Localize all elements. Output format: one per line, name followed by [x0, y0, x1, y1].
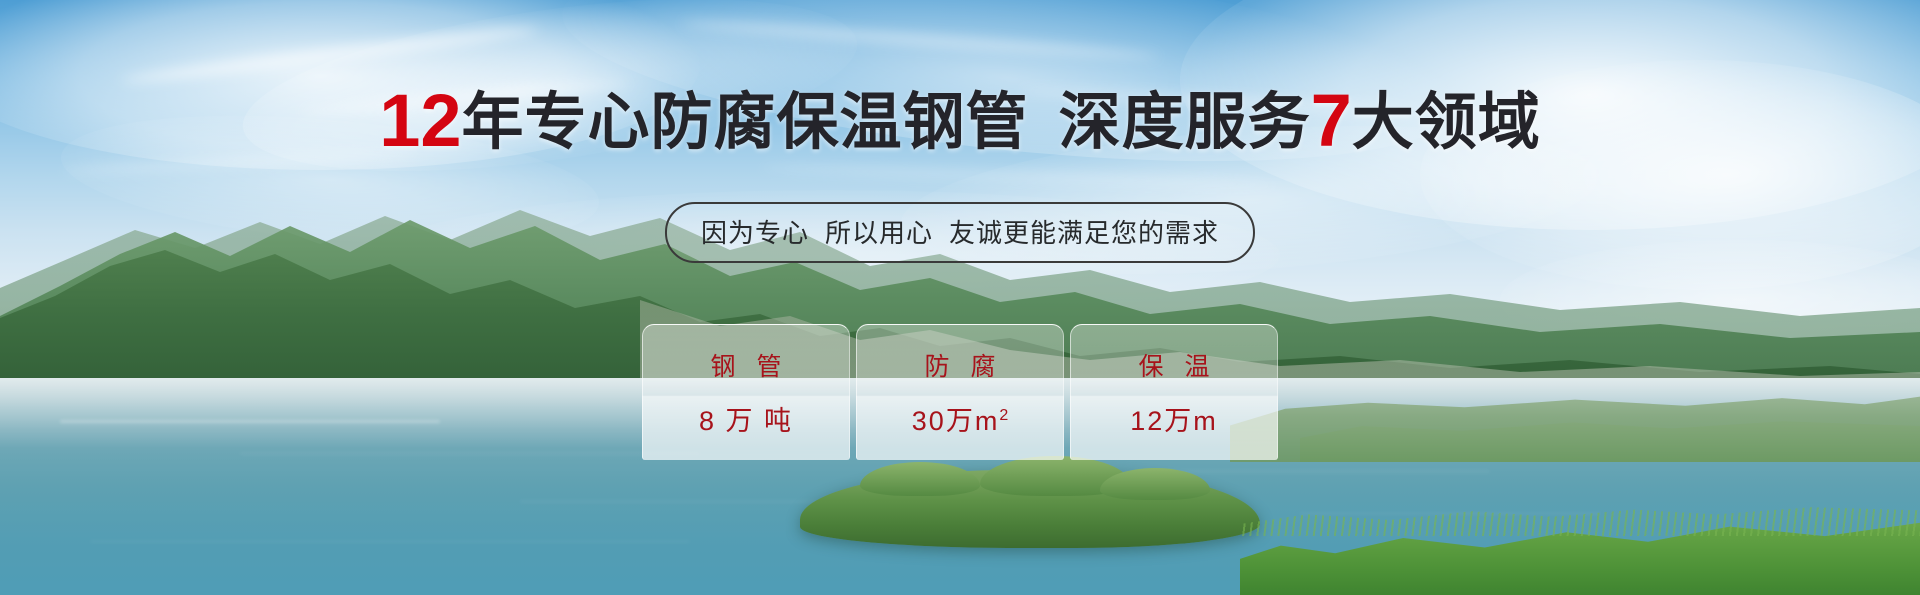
- stat-card-value: 8 万 吨: [699, 399, 793, 438]
- headline-years-number: 12: [379, 79, 461, 162]
- stat-card-group: 钢 管 8 万 吨 防 腐 30万m2 保 温 12万m: [642, 324, 1278, 460]
- subtitle-pill: 因为专心所以用心友诚更能满足您的需求: [665, 202, 1255, 263]
- headline-fields-number: 7: [1311, 79, 1352, 162]
- stat-card-title: 防 腐: [918, 347, 1003, 383]
- hero-banner: 12年专心防腐保温钢管深度服务7大领域 因为专心所以用心友诚更能满足您的需求 钢…: [0, 0, 1920, 595]
- stat-card-steel-pipe[interactable]: 钢 管 8 万 吨: [642, 324, 850, 460]
- stat-value-text: 30万m: [912, 406, 1000, 436]
- stat-card-insulation[interactable]: 保 温 12万m: [1070, 324, 1278, 460]
- stat-value-text: 8 万 吨: [699, 406, 793, 436]
- headline-part-3: 大领域: [1352, 88, 1541, 157]
- stat-card-anticorrosion[interactable]: 防 腐 30万m2: [856, 324, 1064, 460]
- stat-value-superscript: 2: [999, 407, 1008, 424]
- stat-card-value: 30万m2: [912, 399, 1008, 438]
- subtitle-segment-2: 所以用心: [825, 218, 933, 248]
- stat-card-title: 钢 管: [704, 347, 789, 383]
- subtitle-segment-3: 友诚更能满足您的需求: [949, 218, 1219, 248]
- stat-card-title: 保 温: [1132, 347, 1217, 383]
- stat-card-value: 12万m: [1130, 399, 1218, 438]
- banner-content: 12年专心防腐保温钢管深度服务7大领域 因为专心所以用心友诚更能满足您的需求 钢…: [0, 0, 1920, 595]
- headline-part-2: 深度服务: [1059, 88, 1311, 157]
- subtitle-segment-1: 因为专心: [701, 218, 809, 248]
- stat-value-text: 12万m: [1130, 406, 1218, 436]
- headline: 12年专心防腐保温钢管深度服务7大领域: [0, 84, 1920, 158]
- headline-part-1: 年专心防腐保温钢管: [462, 88, 1029, 157]
